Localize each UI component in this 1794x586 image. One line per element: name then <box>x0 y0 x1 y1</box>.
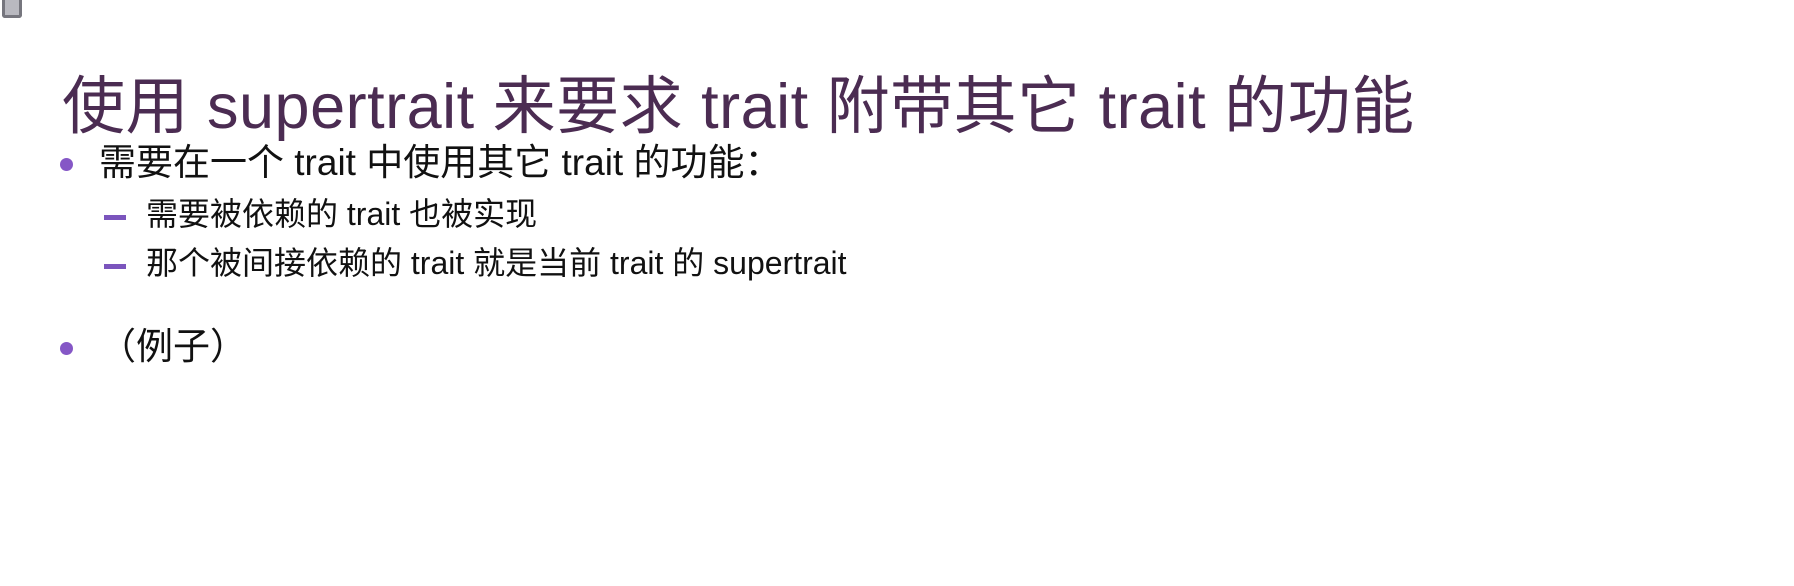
bullet-label: 需要在一个 trait 中使用其它 trait 的功能： <box>99 140 781 186</box>
bullet-dot-icon <box>60 158 73 171</box>
bullet-dash-icon <box>104 215 126 220</box>
bullet-spacer <box>0 284 1794 324</box>
sub-bullet-label: 需要被依赖的 trait 也被实现 <box>146 194 537 235</box>
sub-bullet-label: 那个被间接依赖的 trait 就是当前 trait 的 supertrait <box>146 243 847 284</box>
bullet-item-2: （例子） <box>0 324 1794 370</box>
bullet-dot-icon <box>60 342 73 355</box>
bullet-item-1: 需要在一个 trait 中使用其它 trait 的功能： <box>0 140 1794 186</box>
corner-handle-artifact <box>2 0 22 18</box>
slide-canvas: 使用 supertrait 来要求 trait 附带其它 trait 的功能 需… <box>0 0 1794 586</box>
page-title: 使用 supertrait 来要求 trait 附带其它 trait 的功能 <box>62 72 1762 143</box>
bullet-dash-icon <box>104 264 126 269</box>
bullet-label: （例子） <box>99 324 247 370</box>
sub-bullet-item-2: 那个被间接依赖的 trait 就是当前 trait 的 supertrait <box>0 243 1794 284</box>
slide-body: 需要在一个 trait 中使用其它 trait 的功能： 需要被依赖的 trai… <box>0 140 1794 374</box>
sub-bullet-item-1: 需要被依赖的 trait 也被实现 <box>0 194 1794 235</box>
